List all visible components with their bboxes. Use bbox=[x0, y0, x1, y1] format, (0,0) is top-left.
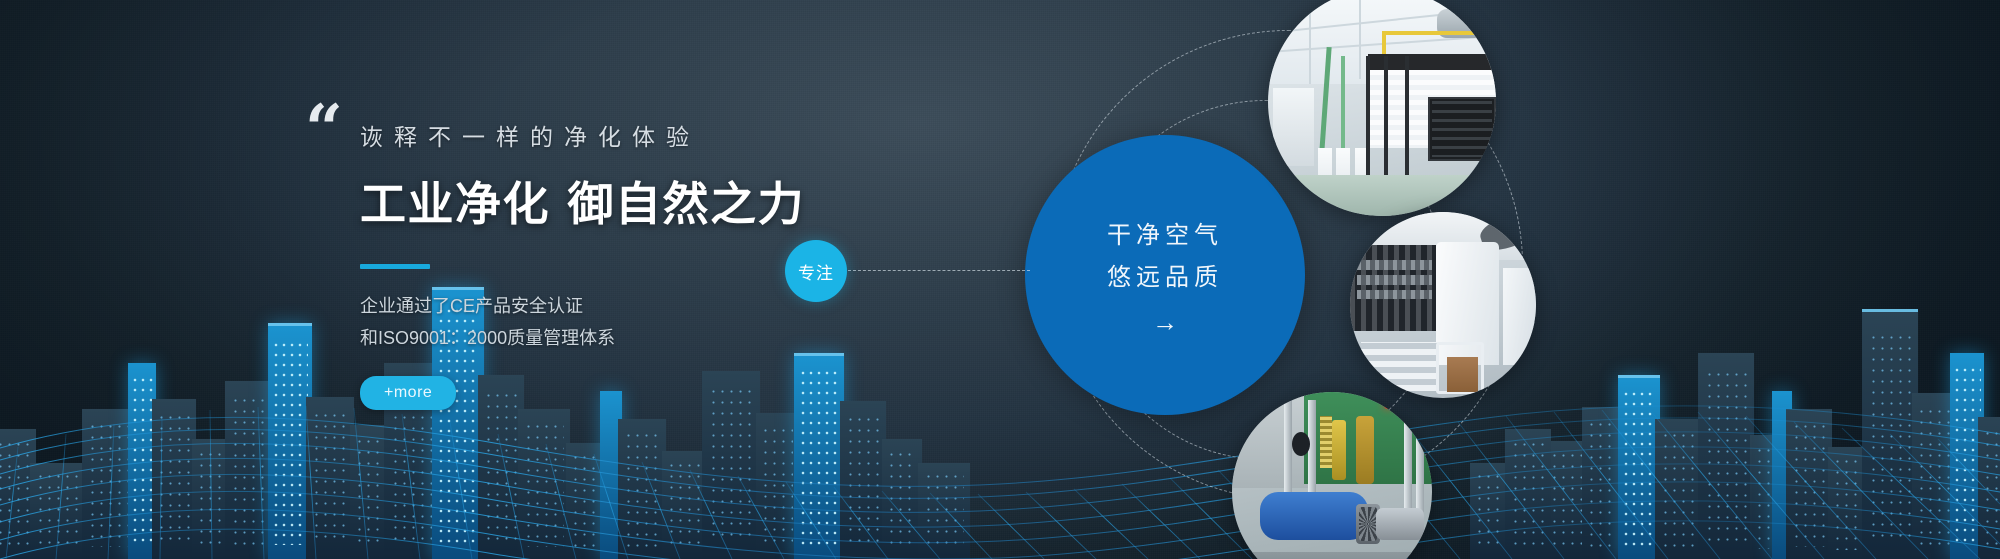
accent-divider bbox=[360, 264, 430, 269]
photo-3-content bbox=[1232, 392, 1432, 559]
hero-description-line1: 企业通过了CE产品安全认证 bbox=[360, 291, 920, 323]
hero-description-line2: 和ISO9001：2000质量管理体系 bbox=[360, 323, 920, 355]
photo-industrial-plant-hall[interactable] bbox=[1268, 0, 1496, 216]
photo-textile-machinery[interactable] bbox=[1350, 212, 1536, 398]
photo-2-content bbox=[1350, 212, 1536, 398]
hero-banner: 专注 干净空气 悠远品质 → bbox=[0, 0, 2000, 559]
photo-blue-pipe-valves[interactable] bbox=[1232, 392, 1432, 559]
page-title: 工业净化 御自然之力 bbox=[360, 168, 920, 234]
hero-tagline: 诙释不一样的净化体验 bbox=[360, 118, 920, 152]
quote-mark-icon: “ bbox=[305, 96, 340, 162]
main-circle-line1: 干净空气 bbox=[1107, 215, 1223, 257]
hero-description: 企业通过了CE产品安全认证 和ISO9001：2000质量管理体系 bbox=[360, 291, 920, 354]
main-circle-line2: 悠远品质 bbox=[1107, 257, 1223, 299]
more-button[interactable]: +more bbox=[360, 376, 456, 410]
arrow-right-icon: → bbox=[1152, 309, 1178, 335]
wireframe-terrain bbox=[0, 344, 2000, 559]
hero-text-block: “ 诙释不一样的净化体验 工业净化 御自然之力 企业通过了CE产品安全认证 和I… bbox=[360, 118, 920, 410]
photo-1-content bbox=[1268, 0, 1496, 216]
main-circle-cta[interactable]: 干净空气 悠远品质 → bbox=[1025, 135, 1305, 415]
